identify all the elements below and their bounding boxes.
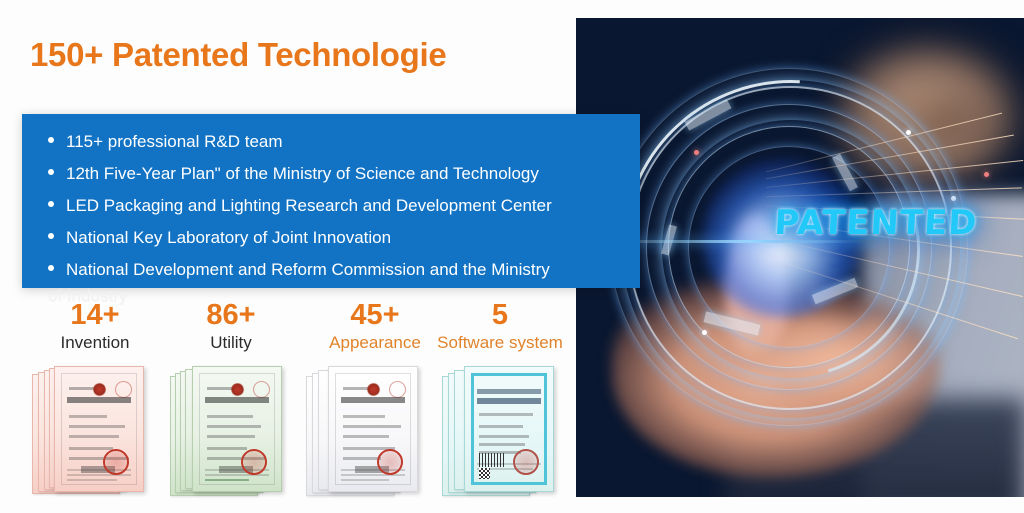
bullet-dot-icon <box>48 169 54 175</box>
hologram-node-4 <box>984 172 989 177</box>
stat-number: 86+ <box>176 300 286 330</box>
stat-appearance: 45+ Appearance <box>320 300 430 354</box>
list-item: 115+ professional R&D team <box>22 126 640 158</box>
red-seal-icon <box>241 449 267 475</box>
stat-number: 14+ <box>40 300 150 330</box>
hologram-node-5 <box>694 150 699 155</box>
list-item: National Development and Reform Commissi… <box>22 254 640 286</box>
hero-photo: PATENTED <box>576 18 1024 497</box>
page-title: 150+ Patented Technologie <box>30 36 446 74</box>
qr-code-icon <box>479 468 490 479</box>
appearance-certificate-stack <box>306 366 418 494</box>
certificate-front <box>464 366 554 492</box>
stat-label: Software system <box>424 332 576 354</box>
stat-invention: 14+ Invention <box>40 300 150 354</box>
seal-outline-icon <box>253 381 270 398</box>
hologram-node-3 <box>702 330 707 335</box>
list-item: National Key Laboratory of Joint Innovat… <box>22 222 640 254</box>
utility-certificate-stack <box>170 366 282 494</box>
barcode-icon <box>479 453 505 467</box>
invention-certificate-stack <box>32 366 144 494</box>
bullet-dot-icon <box>48 233 54 239</box>
red-seal-icon <box>377 449 403 475</box>
bullet-dot-icon <box>48 137 54 143</box>
red-seal-icon <box>103 449 129 475</box>
bullet-text: 12th Five-Year Plan" of the Ministry of … <box>66 158 539 190</box>
bullet-text: National Development and Reform Commissi… <box>66 254 550 286</box>
stat-software-system: 5 Software system <box>424 300 576 354</box>
seal-outline-icon <box>115 381 132 398</box>
bullet-text: National Key Laboratory of Joint Innovat… <box>66 222 391 254</box>
list-item: LED Packaging and Lighting Research and … <box>22 190 640 222</box>
stat-utility: 86+ Utility <box>176 300 286 354</box>
certificate-front <box>192 366 282 492</box>
red-seal-icon <box>513 449 539 475</box>
bullet-text: LED Packaging and Lighting Research and … <box>66 190 552 222</box>
highlights-panel: 115+ professional R&D team 12th Five-Yea… <box>22 114 640 288</box>
stat-number: 5 <box>424 300 576 330</box>
certificate-front <box>54 366 144 492</box>
seal-outline-icon <box>389 381 406 398</box>
software-certificate-stack <box>442 366 554 494</box>
bullet-dot-icon <box>48 265 54 271</box>
bullet-dot-icon <box>48 201 54 207</box>
stat-label: Appearance <box>320 332 430 354</box>
stat-number: 45+ <box>320 300 430 330</box>
certificate-stacks <box>24 366 576 498</box>
hologram-node-2 <box>951 196 956 201</box>
bullet-text: 115+ professional R&D team <box>66 126 283 158</box>
hologram-node-1 <box>906 130 911 135</box>
patented-hologram-label: PATENTED <box>725 203 1024 243</box>
stat-label: Utility <box>176 332 286 354</box>
stats-row: 14+ Invention 86+ Utility 45+ Appearance… <box>24 300 576 362</box>
list-item: 12th Five-Year Plan" of the Ministry of … <box>22 158 640 190</box>
slide-root: 150+ Patented Technologie <box>0 0 1024 513</box>
stat-label: Invention <box>40 332 150 354</box>
certificate-front <box>328 366 418 492</box>
